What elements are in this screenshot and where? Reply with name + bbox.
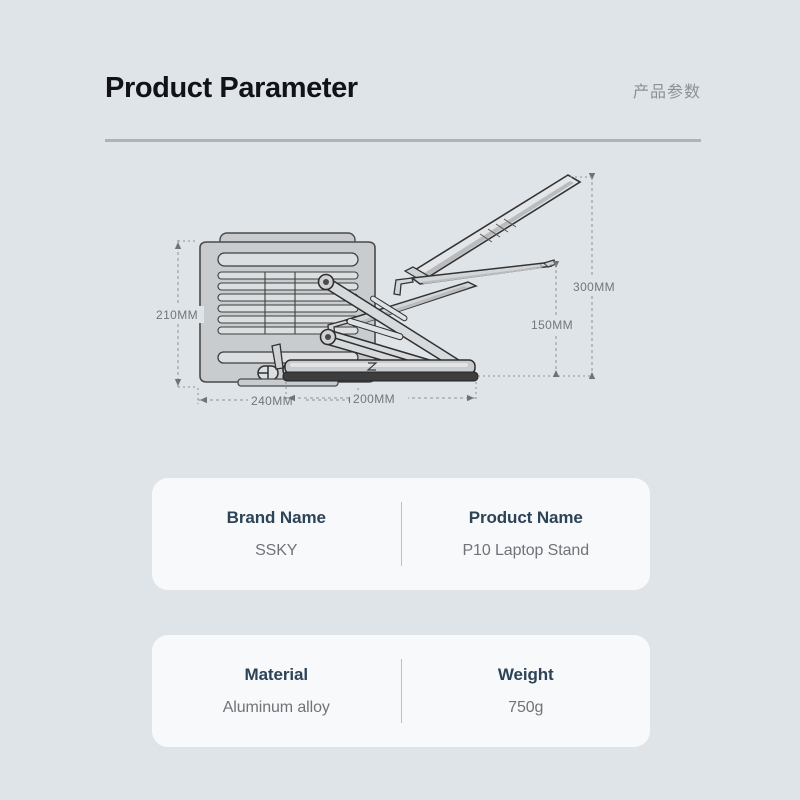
dimension-210mm: 210MM xyxy=(152,240,204,388)
spec-label-brand-name: Brand Name xyxy=(227,508,326,528)
top-view-group: 210MM 240MM xyxy=(152,233,375,408)
dimension-label-240mm: 240MM xyxy=(251,394,293,408)
spec-value-brand-name: SSKY xyxy=(255,542,297,560)
spec-cell-material: Material Aluminum alloy xyxy=(152,635,401,747)
dimension-label-210mm: 210MM xyxy=(156,308,198,322)
spec-value-weight: 750g xyxy=(508,699,543,717)
dimension-label-200mm: 200MM xyxy=(353,392,395,406)
spec-cell-weight: Weight 750g xyxy=(402,635,651,747)
page-title-chinese: 产品参数 xyxy=(633,78,701,102)
spec-value-material: Aluminum alloy xyxy=(223,699,330,717)
spec-value-product-name: P10 Laptop Stand xyxy=(462,542,589,560)
spec-label-product-name: Product Name xyxy=(469,508,583,528)
spec-card-brand-product: Brand Name SSKY Product Name P10 Laptop … xyxy=(152,478,650,590)
side-view-group: 300MM 150MM 200MM xyxy=(272,173,630,406)
upper-support-arm xyxy=(394,260,556,295)
spec-card-material-weight: Material Aluminum alloy Weight 750g xyxy=(152,635,650,747)
dimension-label-300mm: 300MM xyxy=(573,280,615,294)
spec-label-weight: Weight xyxy=(498,665,554,685)
page-header: Product Parameter 产品参数 xyxy=(105,72,701,122)
vent-slot-top xyxy=(218,253,358,266)
dimension-label-150mm: 150MM xyxy=(531,318,573,332)
spec-label-material: Material xyxy=(245,665,308,685)
spec-cell-brand-name: Brand Name SSKY xyxy=(152,478,401,590)
header-divider xyxy=(105,139,701,142)
dimension-diagram-svg: 210MM 240MM xyxy=(100,160,720,430)
dimension-300mm: 300MM xyxy=(478,173,630,379)
page-title: Product Parameter xyxy=(105,72,358,105)
spec-cell-product-name: Product Name P10 Laptop Stand xyxy=(402,478,651,590)
product-dimension-diagrams: 210MM 240MM xyxy=(100,160,720,430)
